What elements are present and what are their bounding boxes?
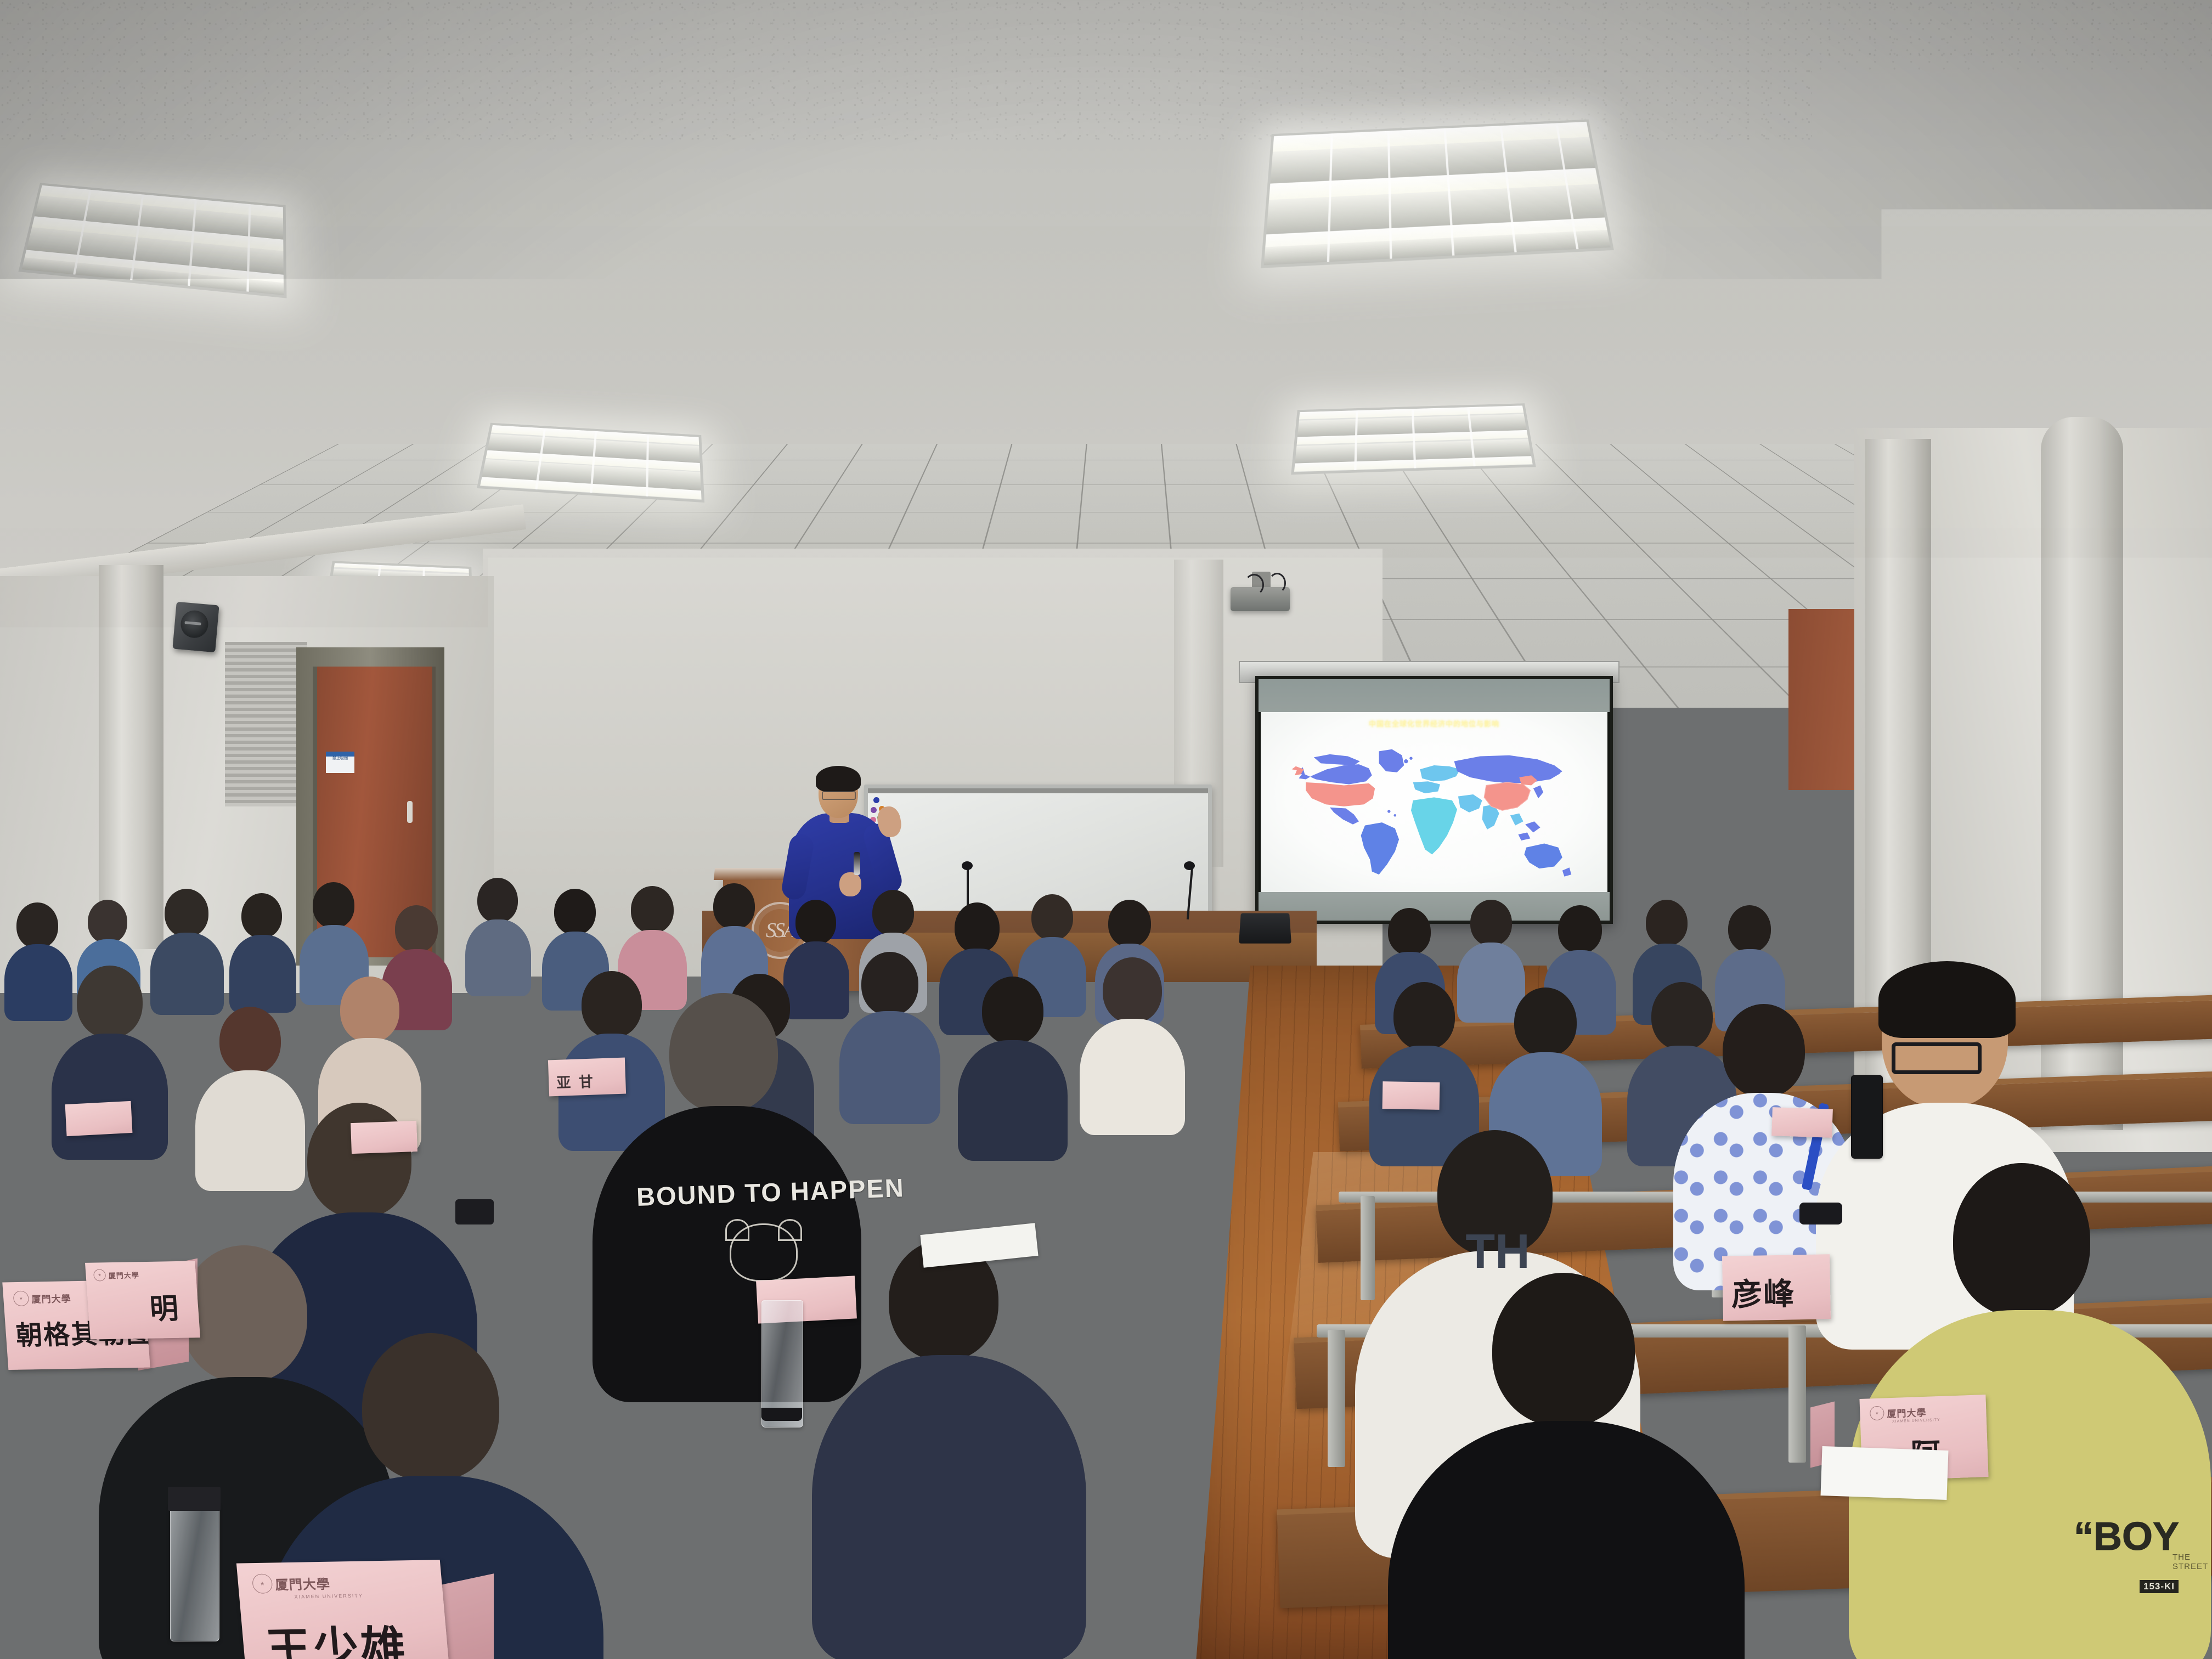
head bbox=[1470, 900, 1512, 946]
torso bbox=[1457, 943, 1525, 1023]
microphone-head-2 bbox=[1184, 861, 1195, 870]
no-smoking-sign-label: 禁止吸烟 bbox=[332, 757, 348, 760]
screen-top-border bbox=[1259, 679, 1610, 712]
university-name-cn: 厦門大學 bbox=[108, 1269, 139, 1280]
head bbox=[1646, 900, 1688, 946]
shirt-text-th: TH bbox=[1448, 1223, 1547, 1279]
world-map-graphic bbox=[1264, 736, 1604, 887]
name-card-wangshaoxiong: ★ 厦門大學 XIAMEN UNIVERSITY 王少雄 bbox=[236, 1560, 449, 1659]
head bbox=[88, 900, 127, 944]
no-smoking-sign: 禁止吸烟 bbox=[326, 752, 354, 773]
hair-right-glasses bbox=[1878, 961, 2016, 1038]
head bbox=[982, 977, 1043, 1045]
magnet-blue[interactable] bbox=[873, 797, 879, 803]
head bbox=[669, 993, 778, 1113]
wall-speaker-left bbox=[172, 602, 219, 652]
seat-post-l1 bbox=[77, 1180, 89, 1262]
head bbox=[713, 883, 755, 929]
torso bbox=[195, 1070, 305, 1191]
projected-slide: 中国在全球化世界经济中的地位与影响 bbox=[1261, 712, 1607, 892]
head bbox=[165, 889, 208, 937]
speaker-bracket bbox=[1701, 569, 1719, 607]
torso bbox=[229, 935, 296, 1013]
head bbox=[16, 902, 58, 949]
magnet-purple[interactable] bbox=[871, 807, 877, 813]
university-logo-wangshaoxiong: ★ 厦門大學 bbox=[252, 1573, 331, 1594]
head bbox=[340, 977, 399, 1042]
wall-louver-vent bbox=[225, 642, 307, 806]
head bbox=[181, 1245, 307, 1383]
seat-post-r1 bbox=[1361, 1196, 1375, 1300]
name-card-yanfeng: 彦峰 bbox=[1722, 1254, 1831, 1321]
lecture-hall-photo: 禁止吸烟 中国在全球化世界经济中的地位与影响 bbox=[0, 0, 2212, 1659]
university-name-en: XIAMEN UNIVERSITY bbox=[294, 1593, 363, 1599]
slide-title: 中国在全球化世界经济中的地位与影响 bbox=[1261, 718, 1607, 729]
papers-on-desk-2[interactable] bbox=[1820, 1446, 1948, 1500]
head bbox=[477, 878, 518, 923]
university-seal-icon: ★ bbox=[1870, 1406, 1884, 1421]
torso bbox=[592, 1106, 861, 1402]
head bbox=[955, 902, 1000, 953]
torso bbox=[465, 919, 531, 996]
head bbox=[1393, 982, 1455, 1050]
head bbox=[241, 893, 282, 938]
presenter-glasses bbox=[822, 791, 856, 800]
wall-speaker-right bbox=[1638, 553, 1689, 607]
torso bbox=[839, 1011, 940, 1124]
door-right[interactable] bbox=[1788, 609, 1854, 790]
head bbox=[219, 1007, 281, 1075]
university-name-cn: 厦門大學 bbox=[274, 1573, 331, 1593]
head bbox=[631, 886, 674, 933]
head bbox=[861, 952, 918, 1015]
torso bbox=[783, 941, 849, 1019]
university-seal-icon: ★ bbox=[13, 1291, 29, 1306]
seat-post-r4 bbox=[1788, 1325, 1806, 1463]
university-seal-icon: ★ bbox=[252, 1573, 273, 1593]
head bbox=[795, 900, 836, 945]
torso bbox=[812, 1355, 1086, 1659]
head bbox=[1031, 894, 1073, 940]
head bbox=[313, 882, 354, 928]
head bbox=[872, 890, 914, 936]
water-bottle-left[interactable] bbox=[170, 1503, 219, 1641]
wall-column-left bbox=[99, 565, 163, 949]
head bbox=[1103, 957, 1162, 1023]
head bbox=[307, 1103, 411, 1218]
shirt-sub-street: THE STREET bbox=[2172, 1553, 2212, 1571]
head bbox=[1514, 988, 1577, 1057]
eyeglasses-icon bbox=[1892, 1042, 1982, 1074]
university-seal-icon: ★ bbox=[93, 1269, 106, 1281]
head bbox=[1723, 1004, 1805, 1097]
name-card-distant-3 bbox=[1771, 1107, 1833, 1138]
head bbox=[1388, 908, 1431, 955]
attendee-name: 彦峰 bbox=[1731, 1269, 1795, 1314]
university-logo-chaogeqiletu: ★ 厦門大學 bbox=[13, 1290, 71, 1306]
water-bottle-right[interactable] bbox=[1851, 1075, 1883, 1159]
wrist-watch bbox=[1799, 1203, 1842, 1224]
torso bbox=[4, 944, 72, 1021]
water-bottle-base bbox=[761, 1408, 802, 1421]
ceiling-light-1 bbox=[1261, 120, 1614, 268]
name-card-distant-1 bbox=[65, 1101, 133, 1136]
head bbox=[1953, 1163, 2090, 1317]
torso bbox=[52, 1034, 168, 1160]
thermos-dark[interactable] bbox=[455, 1199, 494, 1224]
head bbox=[395, 905, 438, 952]
head bbox=[1558, 905, 1602, 953]
handheld-microphone bbox=[854, 852, 860, 875]
name-card-ming: ★ 厦門大學 明 bbox=[85, 1261, 200, 1339]
name-card-partial-left: 亚 甘 bbox=[548, 1058, 626, 1097]
head bbox=[1108, 900, 1151, 947]
head bbox=[362, 1333, 499, 1481]
torso bbox=[958, 1040, 1068, 1161]
head bbox=[554, 889, 596, 935]
seat-post-r3 bbox=[1328, 1330, 1345, 1467]
water-bottle-cap-left[interactable] bbox=[168, 1487, 221, 1511]
head bbox=[1728, 905, 1771, 952]
university-logo-ming: ★ 厦門大學 bbox=[93, 1268, 140, 1281]
torso bbox=[1080, 1019, 1185, 1135]
presenter-hair bbox=[816, 766, 861, 792]
lectern-laptop[interactable] bbox=[1239, 913, 1291, 943]
university-name-cn: 厦門大學 bbox=[1887, 1404, 1927, 1419]
head bbox=[77, 966, 143, 1038]
attendee-name: 王少雄 bbox=[263, 1611, 410, 1659]
microphone-head bbox=[962, 861, 973, 870]
shirt-brand-boy: “BOY bbox=[2074, 1514, 2179, 1559]
projector-cable-2 bbox=[1268, 573, 1286, 594]
head bbox=[1651, 982, 1713, 1050]
tiger-ear-right-icon bbox=[778, 1219, 802, 1241]
projection-screen: 中国在全球化世界经济中的地位与影响 bbox=[1255, 676, 1613, 924]
presenter-hand-mic bbox=[839, 872, 861, 896]
torso bbox=[150, 933, 224, 1015]
head bbox=[582, 971, 642, 1038]
ceiling-light-4 bbox=[1291, 403, 1536, 475]
projector-cable bbox=[1244, 574, 1264, 596]
attendee-name: 明 bbox=[148, 1285, 179, 1327]
university-name-cn: 厦門大學 bbox=[31, 1291, 72, 1305]
door-handle[interactable] bbox=[407, 801, 413, 823]
whiteboard-tray bbox=[868, 788, 1208, 793]
smoke-detector bbox=[853, 426, 889, 442]
tiger-ear-left-icon bbox=[725, 1219, 749, 1241]
shirt-tag-code: 153-KI bbox=[2140, 1580, 2179, 1593]
head bbox=[1492, 1273, 1635, 1426]
name-card-distant-2 bbox=[351, 1121, 417, 1154]
university-logo-a: ★ 厦門大學 bbox=[1870, 1404, 1927, 1421]
attendee-name: 亚 甘 bbox=[556, 1071, 596, 1092]
name-card-distant-4 bbox=[1383, 1081, 1440, 1110]
